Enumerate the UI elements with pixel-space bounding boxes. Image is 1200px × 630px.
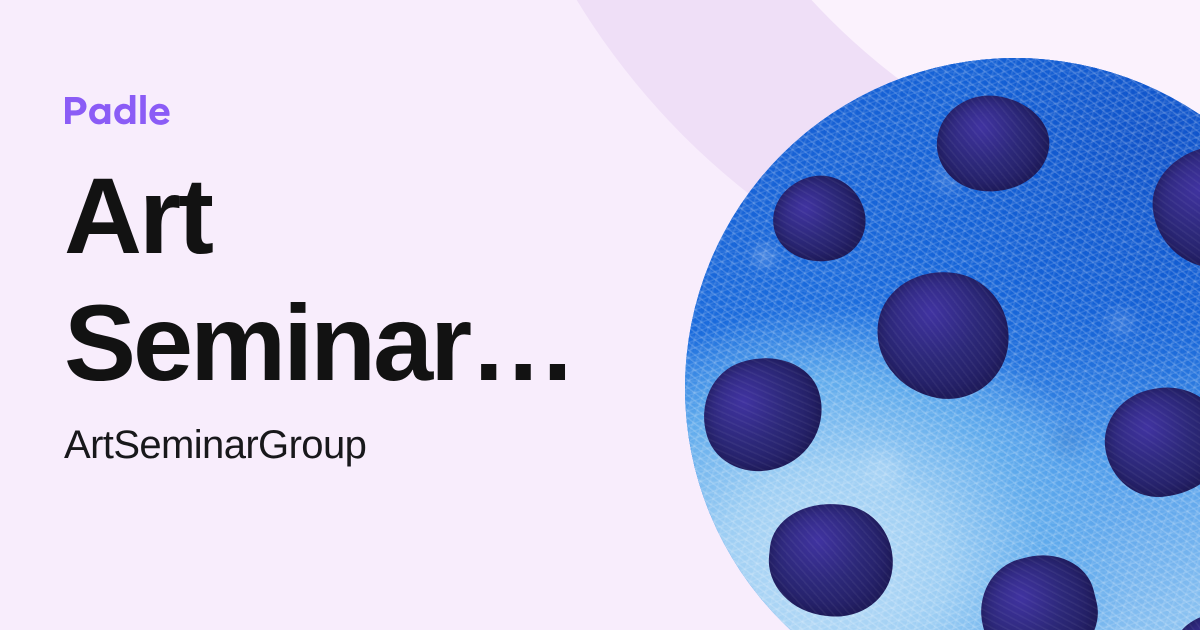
share-card: Art Seminar… ArtSeminarGroup [0, 0, 1200, 630]
artwork-image [685, 58, 1200, 630]
padlet-logo[interactable] [64, 92, 172, 126]
padlet-wordmark-icon [64, 92, 172, 126]
page-title: Art Seminar… [64, 152, 624, 407]
page-subtitle: ArtSeminarGroup [64, 423, 366, 468]
artwork-circle [685, 58, 1200, 630]
